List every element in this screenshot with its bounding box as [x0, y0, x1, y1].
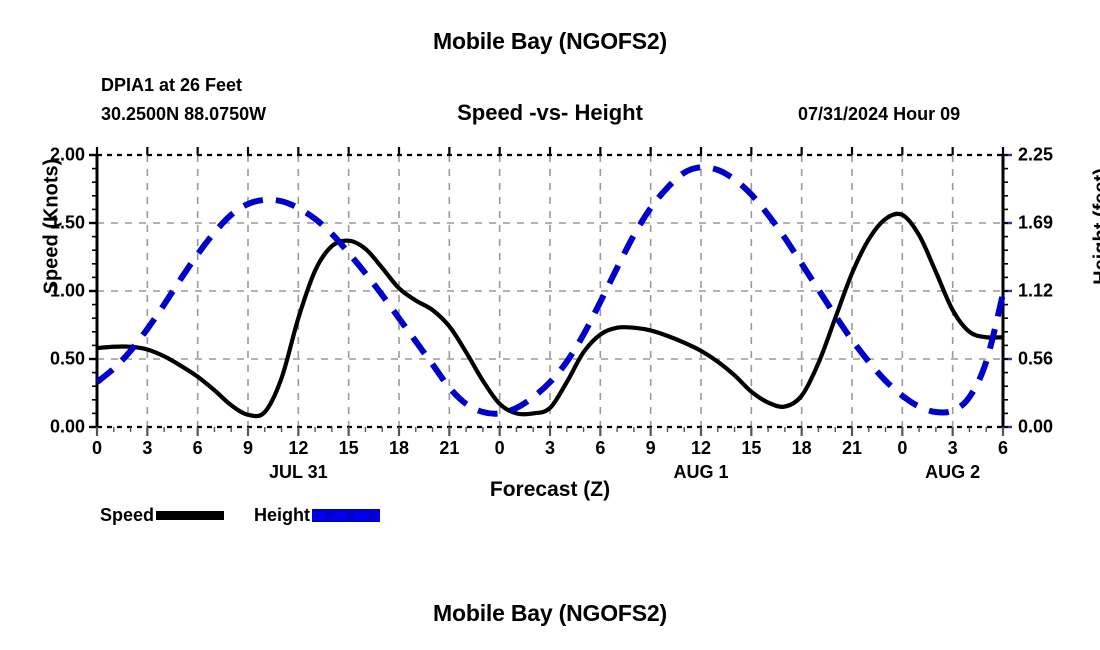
legend-height-swatch — [312, 509, 380, 522]
legend-height-label: Height — [254, 505, 310, 526]
chart-legend: Speed Height — [100, 505, 380, 526]
legend-speed-swatch — [156, 511, 224, 520]
plot-area — [0, 0, 1100, 650]
legend-speed-label: Speed — [100, 505, 154, 526]
chart-canvas: Mobile Bay (NGOFS2) DPIA1 at 26 Feet 30.… — [0, 0, 1100, 650]
page-title-bottom: Mobile Bay (NGOFS2) — [0, 600, 1100, 627]
